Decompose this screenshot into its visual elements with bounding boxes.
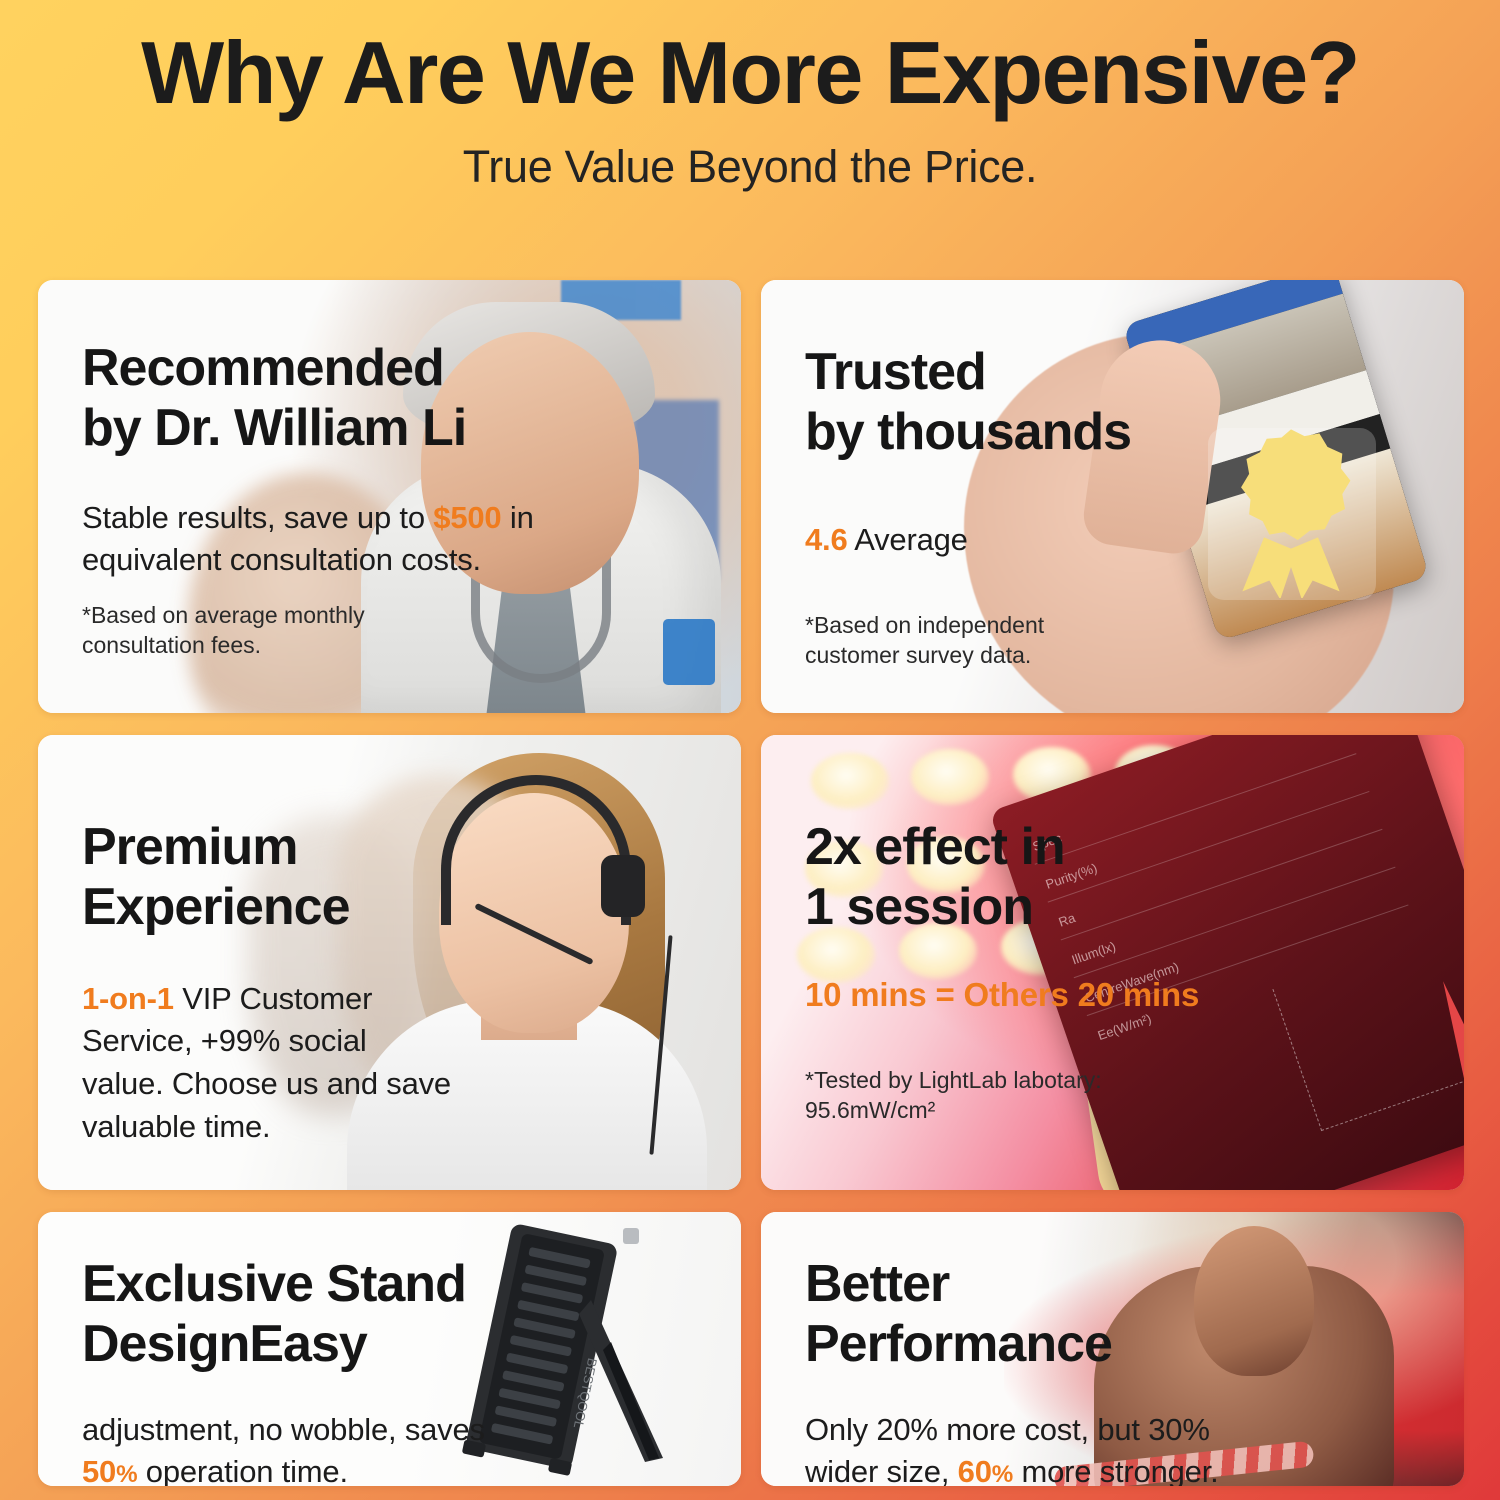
card-text-block: Better Performance Only 20% more cost, b… [761,1212,1341,1486]
card-body: Only 20% more cost, but 30% wider size, … [805,1409,1341,1486]
card-stand[interactable]: BESTQOOL Exclusive Stand DesignEasy adju… [38,1212,741,1486]
body-lead: Stable results, save up to [82,500,433,535]
card-body: 4.6 Average [805,519,1281,562]
card-text-block: Trusted by thousands 4.6 Average [761,280,1281,561]
card-effect[interactable]: Spec Purity(%) Ra Illum(lx) CentreWave(n… [761,735,1464,1190]
time-saved-unit: % [116,1461,137,1486]
body-tail: operation time. [137,1454,347,1486]
card-title: Exclusive Stand DesignEasy [82,1254,598,1375]
card-footnote: *Based on average monthly consultation f… [82,600,365,661]
benefit-card-grid: Recommended by Dr. William Li Stable res… [38,280,1464,1486]
page-subtitle: True Value Beyond the Price. [0,141,1500,193]
id-badge [663,619,715,685]
body-tail: more stronger. [1013,1454,1218,1486]
card-body: 1-on-1 VIP Customer Service, +99% social… [82,978,552,1149]
card-text-block: Premium Experience 1-on-1 VIP Customer S… [38,735,598,1149]
hero-header: Why Are We More Expensive? True Value Be… [0,0,1500,193]
rating-label: Average [848,522,968,557]
strength-value: 60 [958,1454,992,1486]
card-premium[interactable]: Premium Experience 1-on-1 VIP Customer S… [38,735,741,1190]
card-title: 2x effect in 1 session [805,817,1321,938]
card-body: 10 mins = Others 20 mins [805,972,1321,1018]
card-text-block: Recommended by Dr. William Li Stable res… [38,280,598,582]
time-saved-value: 50 [82,1454,116,1486]
card-trusted[interactable]: Trusted by thousands 4.6 Average *Based … [761,280,1464,713]
page-title: Why Are We More Expensive? [0,26,1500,119]
card-performance[interactable]: Better Performance Only 20% more cost, b… [761,1212,1464,1486]
card-recommended[interactable]: Recommended by Dr. William Li Stable res… [38,280,741,713]
rating-value: 4.6 [805,522,848,557]
card-text-block: 2x effect in 1 session 10 mins = Others … [761,735,1321,1017]
service-highlight: 1-on-1 [82,981,174,1016]
card-title: Better Performance [805,1254,1341,1375]
card-title: Premium Experience [82,817,598,938]
card-body: Stable results, save up to $500 in equiv… [82,497,598,583]
body-lead: adjustment, no wobble, saves [82,1412,485,1447]
card-body: adjustment, no wobble, saves 50% operati… [82,1409,598,1486]
strength-unit: % [992,1461,1013,1486]
card-footnote: *Based on independent customer survey da… [805,610,1044,671]
card-title: Recommended by Dr. William Li [82,338,598,459]
headset-earcup [601,855,645,917]
card-footnote: *Tested by LightLab labotary: 95.6mW/cm² [805,1065,1102,1126]
card-text-block: Exclusive Stand DesignEasy adjustment, n… [38,1212,598,1486]
savings-amount: $500 [433,500,501,535]
card-title: Trusted by thousands [805,342,1281,463]
